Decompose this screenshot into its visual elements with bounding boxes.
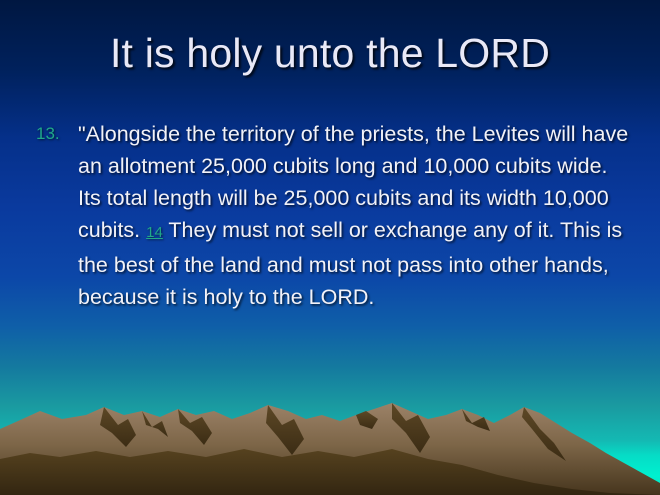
mountain-range-graphic xyxy=(0,385,660,495)
slide-title: It is holy unto the LORD xyxy=(0,30,660,77)
scripture-paragraph: "Alongside the territory of the priests,… xyxy=(78,118,636,313)
slide-body-text-block: 13. "Alongside the territory of the prie… xyxy=(36,118,636,313)
verse-number-marker: 13. xyxy=(36,118,78,150)
inline-verse-number-14: 14 xyxy=(146,224,163,241)
presentation-slide: It is holy unto the LORD 13. "Alongside … xyxy=(0,0,660,495)
